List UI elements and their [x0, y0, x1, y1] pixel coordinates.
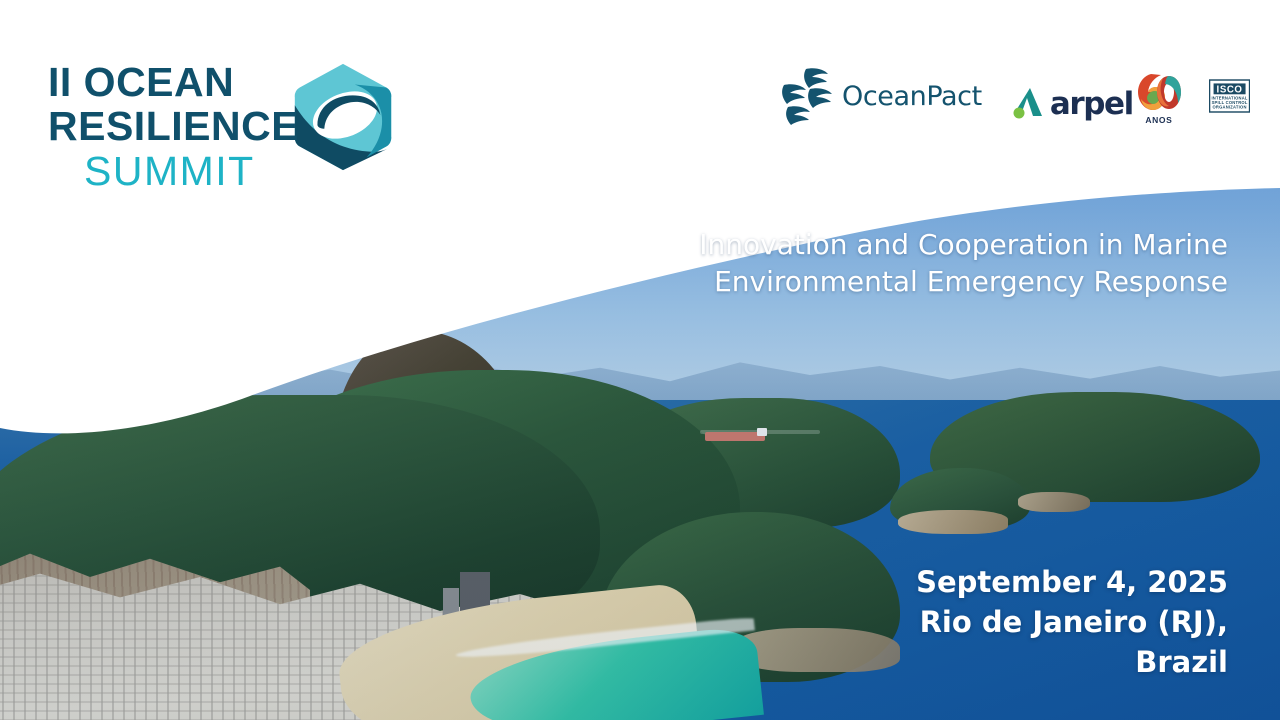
logo-line-3: SUMMIT	[48, 148, 318, 194]
event-location-line-1: Rio de Janeiro (RJ),	[748, 602, 1228, 642]
event-location-line-2: Brazil	[748, 642, 1228, 682]
oceanpact-wordmark: OceanPact	[842, 81, 982, 112]
arpel-triangle-icon	[1008, 82, 1048, 122]
event-logo: II OCEAN RESILIENCE SUMMIT	[44, 36, 384, 226]
arpel-60-mark	[1135, 70, 1183, 114]
partner-logo-oceanpact[interactable]: OceanPact	[780, 67, 982, 125]
arpel-wordmark: arpel	[1050, 86, 1133, 122]
svg-text:ISCO: ISCO	[1216, 85, 1242, 96]
arpel-anos-label: ANOS	[1135, 115, 1183, 125]
svg-text:ORGANIZATION: ORGANIZATION	[1212, 105, 1246, 110]
partner-logos: OceanPact arpel ANOS	[780, 48, 1250, 144]
logo-line-1: II OCEAN	[48, 60, 318, 104]
arpel-60-anos-badge: ANOS	[1135, 70, 1183, 122]
slide-title: Innovation and Cooperation in Marine Env…	[668, 226, 1228, 300]
logo-line-2: RESILIENCE	[48, 104, 318, 148]
event-date: September 4, 2025	[748, 562, 1228, 602]
event-logo-wordmark: II OCEAN RESILIENCE SUMMIT	[48, 60, 318, 194]
partner-logo-arpel[interactable]: arpel ANOS	[1008, 70, 1183, 122]
oceanpact-waves-icon	[780, 67, 836, 125]
event-date-location: September 4, 2025 Rio de Janeiro (RJ), B…	[748, 562, 1228, 682]
event-title-slide: II OCEAN RESILIENCE SUMMIT OceanPact	[0, 0, 1280, 720]
partner-logo-isco[interactable]: ISCO INTERNATIONAL SPILL CONTROL ORGANIZ…	[1209, 67, 1250, 125]
